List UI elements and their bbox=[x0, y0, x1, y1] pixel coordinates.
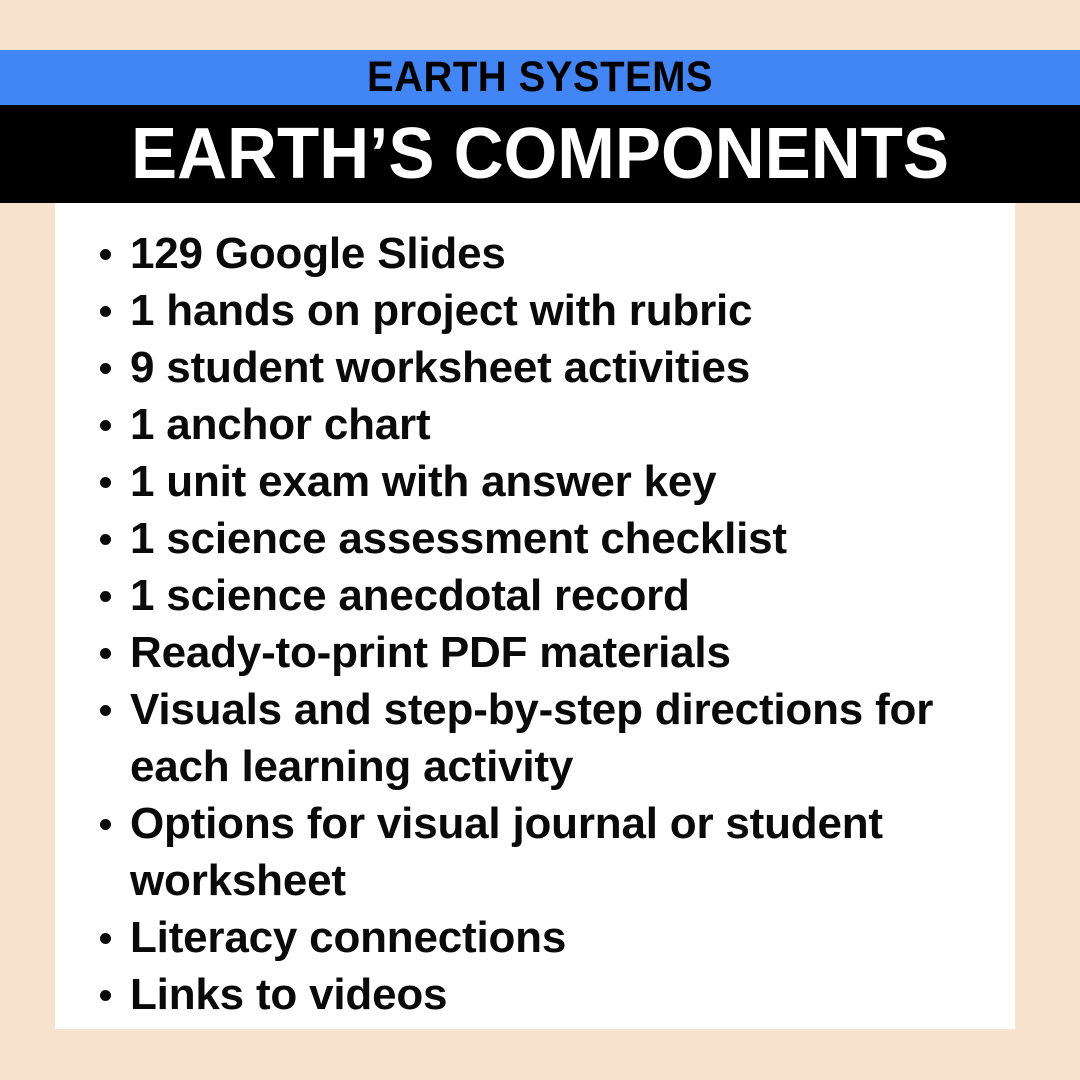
list-item: Links to videos bbox=[55, 966, 1015, 1023]
bullet-icon bbox=[100, 420, 111, 431]
list-item: 1 unit exam with answer key bbox=[55, 453, 1015, 510]
bullet-icon bbox=[100, 363, 111, 374]
bullet-icon bbox=[100, 933, 111, 944]
list-item: 1 anchor chart bbox=[55, 396, 1015, 453]
list-item-label: Visuals and step-by-step directions for … bbox=[130, 685, 933, 791]
list-item: Literacy connections bbox=[55, 909, 1015, 966]
bullet-icon bbox=[100, 306, 111, 317]
poster-canvas: EARTH SYSTEMS EARTH’S COMPONENTS 129 Goo… bbox=[0, 0, 1080, 1080]
list-item-label: Links to videos bbox=[130, 970, 447, 1019]
bullet-icon bbox=[100, 819, 111, 830]
bullet-icon bbox=[100, 990, 111, 1001]
list-item: 129 Google Slides bbox=[55, 225, 1015, 282]
list-item-label: 1 science assessment checklist bbox=[130, 514, 787, 563]
bullet-icon bbox=[100, 534, 111, 545]
page-title: EARTH’S COMPONENTS bbox=[131, 118, 949, 190]
list-item-label: 1 science anecdotal record bbox=[130, 571, 690, 620]
list-item: Ready-to-print PDF materials bbox=[55, 624, 1015, 681]
list-item: Options for visual journal or student wo… bbox=[55, 795, 1015, 909]
eyebrow-title: EARTH SYSTEMS bbox=[367, 56, 713, 99]
list-item-label: 1 anchor chart bbox=[130, 400, 430, 449]
list-item-label: Literacy connections bbox=[130, 913, 566, 962]
bullet-icon bbox=[100, 249, 111, 260]
bullet-icon bbox=[100, 705, 111, 716]
list-item: 1 science anecdotal record bbox=[55, 567, 1015, 624]
list-item-label: Ready-to-print PDF materials bbox=[130, 628, 731, 677]
bullet-icon bbox=[100, 648, 111, 659]
list-item: Visuals and step-by-step directions for … bbox=[55, 681, 1015, 795]
list-item: 1 hands on project with rubric bbox=[55, 282, 1015, 339]
list-item-label: 9 student worksheet activities bbox=[130, 343, 750, 392]
eyebrow-band: EARTH SYSTEMS bbox=[0, 50, 1080, 105]
list-item-label: 1 hands on project with rubric bbox=[130, 286, 752, 335]
title-band: EARTH’S COMPONENTS bbox=[0, 105, 1080, 203]
content-card: 129 Google Slides 1 hands on project wit… bbox=[55, 203, 1015, 1029]
list-item-label: Options for visual journal or student wo… bbox=[130, 799, 883, 905]
feature-list: 129 Google Slides 1 hands on project wit… bbox=[55, 203, 1015, 1023]
bullet-icon bbox=[100, 591, 111, 602]
list-item: 1 science assessment checklist bbox=[55, 510, 1015, 567]
list-item-label: 129 Google Slides bbox=[130, 229, 506, 278]
list-item: 9 student worksheet activities bbox=[55, 339, 1015, 396]
bullet-icon bbox=[100, 477, 111, 488]
list-item-label: 1 unit exam with answer key bbox=[130, 457, 716, 506]
